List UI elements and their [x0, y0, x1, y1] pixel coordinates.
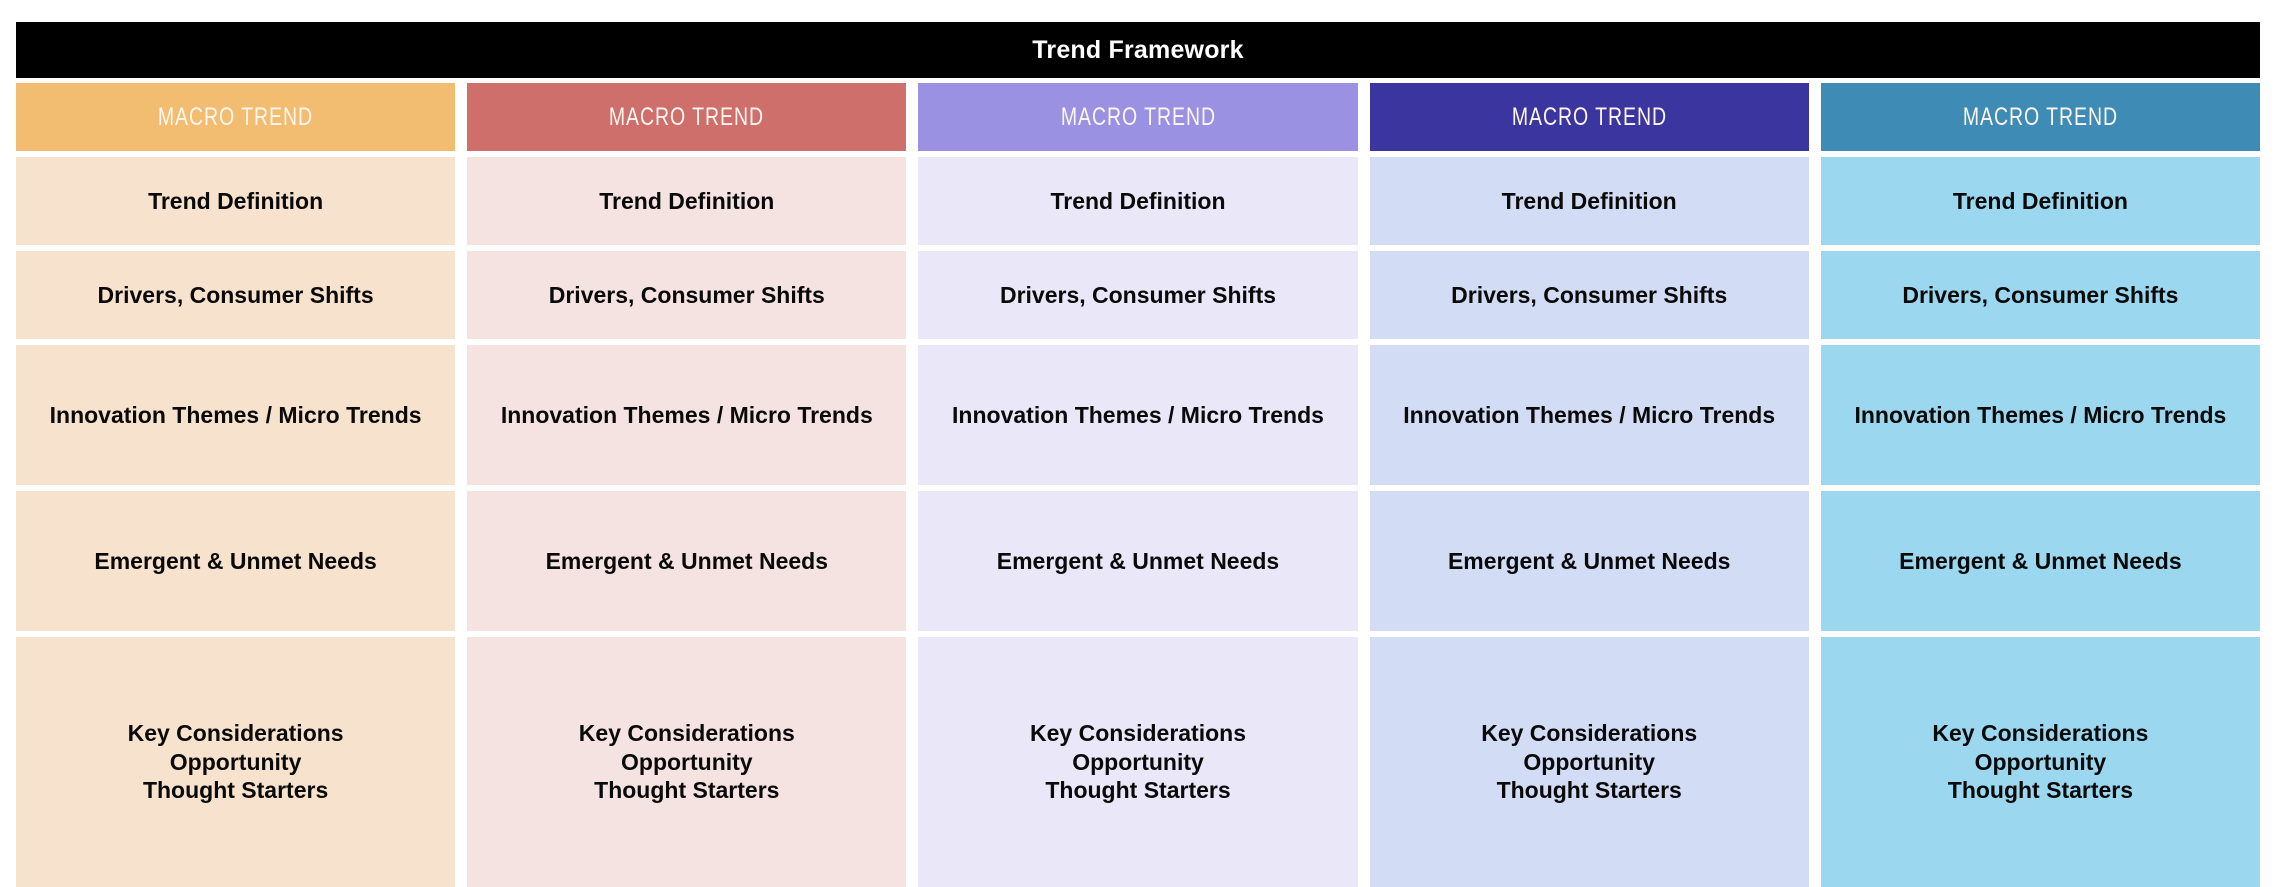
column-header-1[interactable]: MACRO TREND [16, 83, 455, 151]
cell-label: Emergent & Unmet Needs [94, 547, 376, 576]
cell-col4-drivers-consumer-shifts[interactable]: Drivers, Consumer Shifts [1370, 251, 1809, 339]
trend-framework-board: Trend Framework MACRO TREND Trend Defini… [0, 0, 2278, 887]
column-header-label-4: MACRO TREND [1512, 103, 1667, 132]
column-header-label-1: MACRO TREND [158, 103, 313, 132]
cell-label: Emergent & Unmet Needs [1448, 547, 1730, 576]
cell-col5-drivers-consumer-shifts[interactable]: Drivers, Consumer Shifts [1821, 251, 2260, 339]
cell-label: Trend Definition [1050, 187, 1225, 216]
cell-label: Key Considerations Opportunity Thought S… [128, 719, 344, 806]
framework-column-5: MACRO TREND Trend Definition Drivers, Co… [1821, 83, 2260, 887]
cell-col2-drivers-consumer-shifts[interactable]: Drivers, Consumer Shifts [467, 251, 906, 339]
framework-column-3: MACRO TREND Trend Definition Drivers, Co… [918, 83, 1357, 887]
cell-label: Emergent & Unmet Needs [997, 547, 1279, 576]
cell-label: Innovation Themes / Micro Trends [50, 401, 422, 430]
column-header-label-5: MACRO TREND [1963, 103, 2118, 132]
cell-col1-key-considerations[interactable]: Key Considerations Opportunity Thought S… [16, 637, 455, 887]
cell-col1-emergent-unmet-needs[interactable]: Emergent & Unmet Needs [16, 491, 455, 631]
cell-col1-innovation-themes-micro-trends[interactable]: Innovation Themes / Micro Trends [16, 345, 455, 485]
column-header-label-2: MACRO TREND [609, 103, 764, 132]
cell-col2-emergent-unmet-needs[interactable]: Emergent & Unmet Needs [467, 491, 906, 631]
cell-col5-trend-definition[interactable]: Trend Definition [1821, 157, 2260, 245]
column-header-label-3: MACRO TREND [1060, 103, 1215, 132]
framework-column-4: MACRO TREND Trend Definition Drivers, Co… [1370, 83, 1809, 887]
page-title: Trend Framework [1032, 36, 1243, 65]
cell-col4-emergent-unmet-needs[interactable]: Emergent & Unmet Needs [1370, 491, 1809, 631]
cell-col3-key-considerations[interactable]: Key Considerations Opportunity Thought S… [918, 637, 1357, 887]
framework-column-1: MACRO TREND Trend Definition Drivers, Co… [16, 83, 455, 887]
cell-label: Innovation Themes / Micro Trends [501, 401, 873, 430]
cell-label: Drivers, Consumer Shifts [1902, 281, 2178, 310]
column-header-3[interactable]: MACRO TREND [918, 83, 1357, 151]
cell-col2-key-considerations[interactable]: Key Considerations Opportunity Thought S… [467, 637, 906, 887]
column-header-5[interactable]: MACRO TREND [1821, 83, 2260, 151]
cell-label: Key Considerations Opportunity Thought S… [1481, 719, 1697, 806]
cell-col5-key-considerations[interactable]: Key Considerations Opportunity Thought S… [1821, 637, 2260, 887]
cell-col5-innovation-themes-micro-trends[interactable]: Innovation Themes / Micro Trends [1821, 345, 2260, 485]
cell-label: Trend Definition [1502, 187, 1677, 216]
cell-col5-emergent-unmet-needs[interactable]: Emergent & Unmet Needs [1821, 491, 2260, 631]
cell-label: Drivers, Consumer Shifts [98, 281, 374, 310]
cell-label: Emergent & Unmet Needs [1899, 547, 2181, 576]
cell-label: Drivers, Consumer Shifts [549, 281, 825, 310]
cell-col1-trend-definition[interactable]: Trend Definition [16, 157, 455, 245]
cell-label: Innovation Themes / Micro Trends [952, 401, 1324, 430]
title-bar: Trend Framework [16, 22, 2260, 78]
framework-grid: MACRO TREND Trend Definition Drivers, Co… [16, 83, 2260, 887]
cell-label: Drivers, Consumer Shifts [1451, 281, 1727, 310]
cell-label: Key Considerations Opportunity Thought S… [1932, 719, 2148, 806]
cell-label: Trend Definition [148, 187, 323, 216]
cell-col3-innovation-themes-micro-trends[interactable]: Innovation Themes / Micro Trends [918, 345, 1357, 485]
cell-col4-trend-definition[interactable]: Trend Definition [1370, 157, 1809, 245]
cell-col2-innovation-themes-micro-trends[interactable]: Innovation Themes / Micro Trends [467, 345, 906, 485]
cell-label: Trend Definition [1953, 187, 2128, 216]
cell-label: Key Considerations Opportunity Thought S… [579, 719, 795, 806]
cell-col3-trend-definition[interactable]: Trend Definition [918, 157, 1357, 245]
cell-label: Innovation Themes / Micro Trends [1854, 401, 2226, 430]
framework-column-2: MACRO TREND Trend Definition Drivers, Co… [467, 83, 906, 887]
cell-col4-key-considerations[interactable]: Key Considerations Opportunity Thought S… [1370, 637, 1809, 887]
cell-label: Drivers, Consumer Shifts [1000, 281, 1276, 310]
cell-label: Key Considerations Opportunity Thought S… [1030, 719, 1246, 806]
cell-col3-emergent-unmet-needs[interactable]: Emergent & Unmet Needs [918, 491, 1357, 631]
cell-col2-trend-definition[interactable]: Trend Definition [467, 157, 906, 245]
column-header-4[interactable]: MACRO TREND [1370, 83, 1809, 151]
cell-label: Innovation Themes / Micro Trends [1403, 401, 1775, 430]
cell-col1-drivers-consumer-shifts[interactable]: Drivers, Consumer Shifts [16, 251, 455, 339]
cell-label: Emergent & Unmet Needs [546, 547, 828, 576]
cell-label: Trend Definition [599, 187, 774, 216]
cell-col4-innovation-themes-micro-trends[interactable]: Innovation Themes / Micro Trends [1370, 345, 1809, 485]
column-header-2[interactable]: MACRO TREND [467, 83, 906, 151]
cell-col3-drivers-consumer-shifts[interactable]: Drivers, Consumer Shifts [918, 251, 1357, 339]
